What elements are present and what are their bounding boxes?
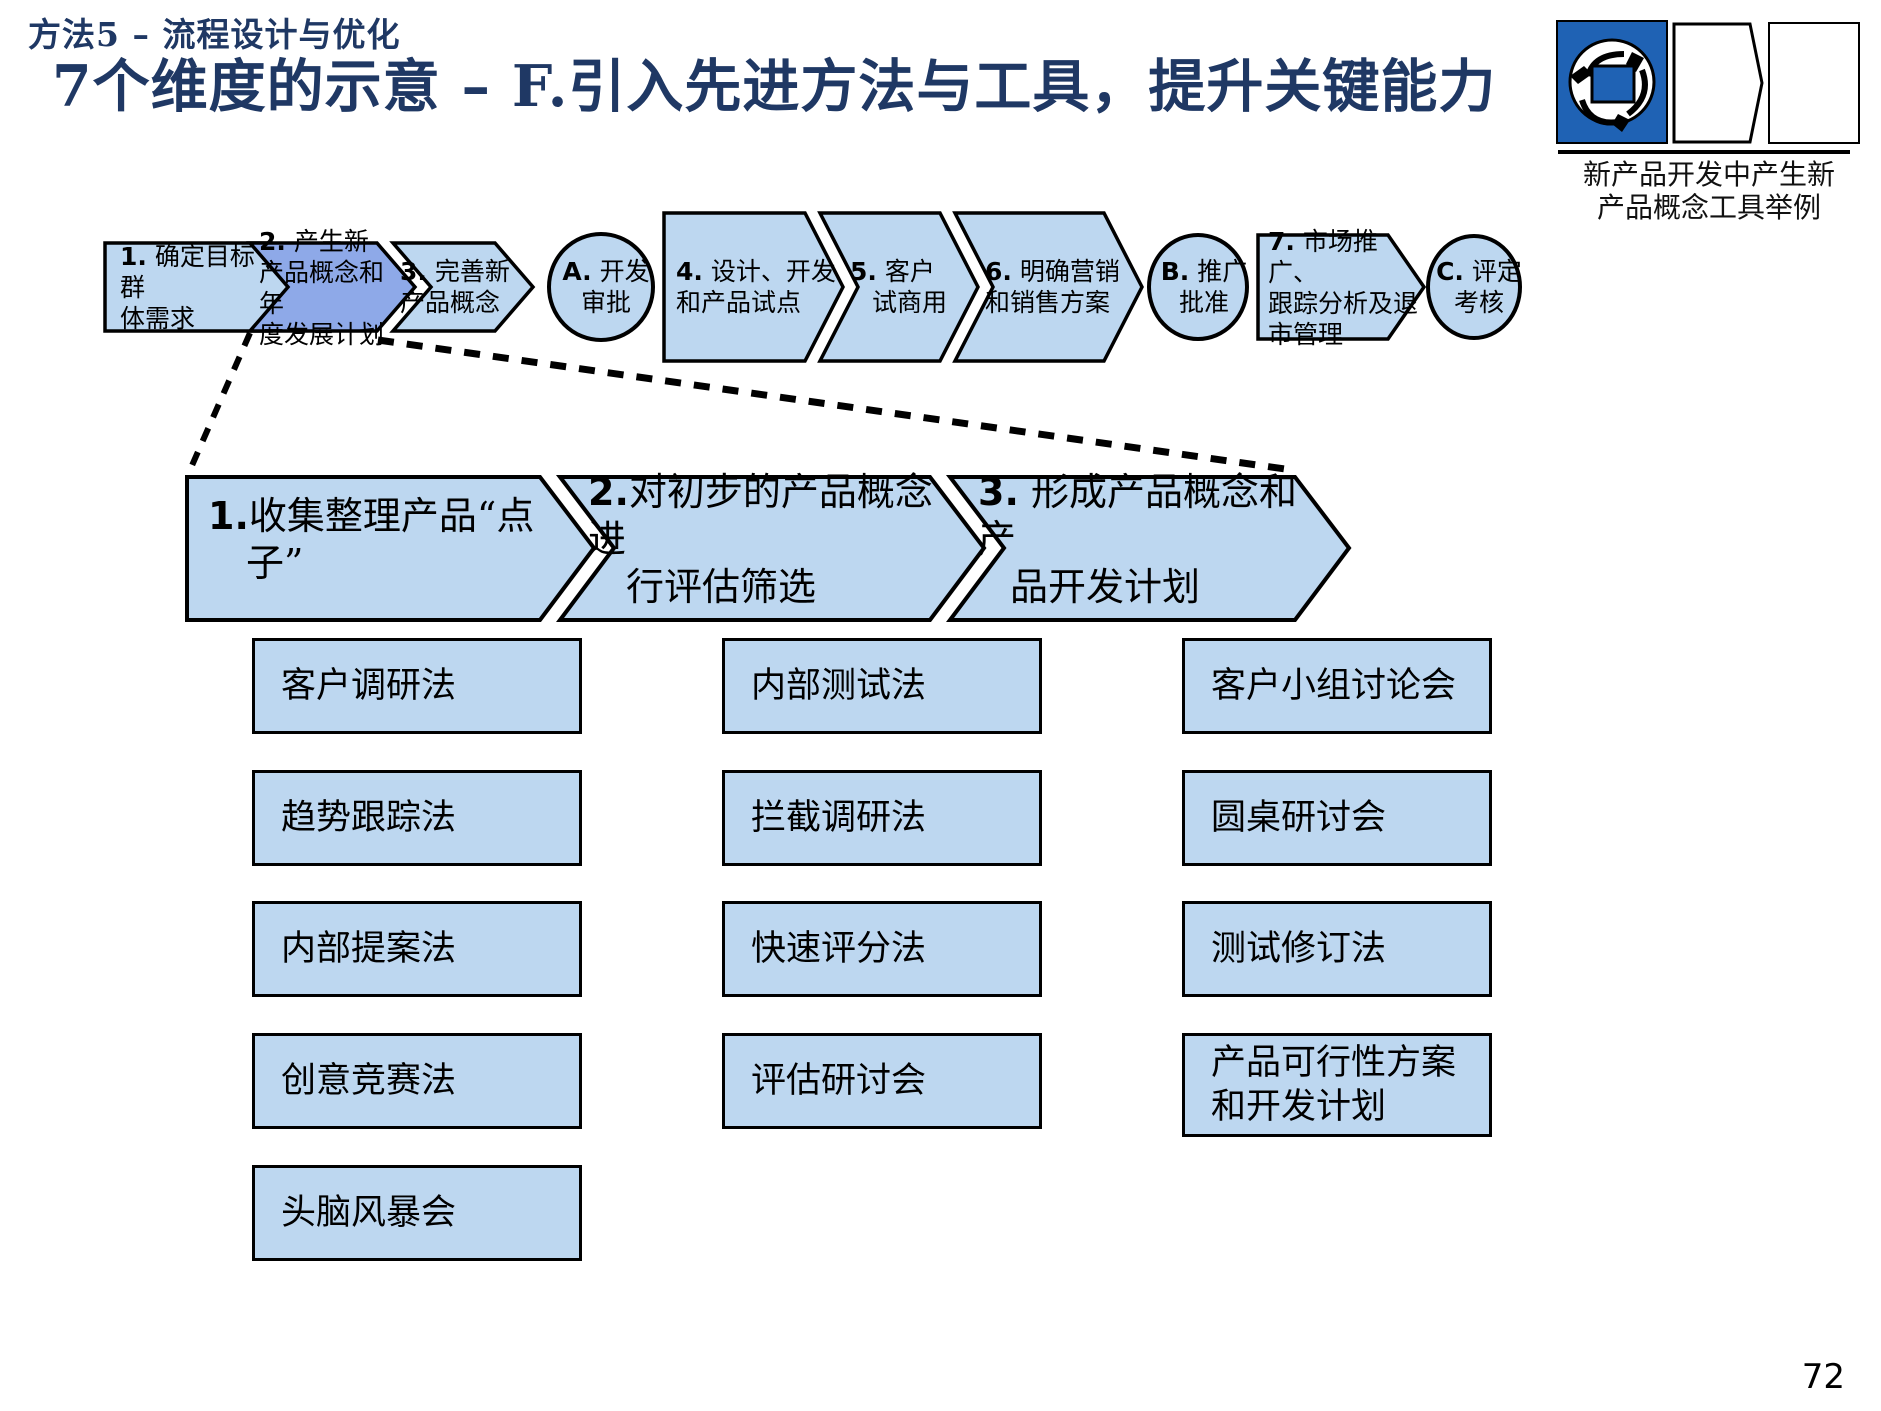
detail-1-line-2: 子” bbox=[208, 540, 548, 587]
gate-a-line-1: 开发 bbox=[600, 257, 650, 286]
step-4-number: 4. bbox=[676, 257, 703, 286]
step-2-line-1: 产生新 bbox=[294, 227, 369, 256]
method-label: 客户小组讨论会 bbox=[1211, 664, 1489, 708]
method-label: 评估研讨会 bbox=[751, 1059, 1039, 1103]
method-box-c1-r4[interactable]: 创意竞赛法 bbox=[252, 1033, 582, 1129]
gate-b-line-1: 推广 bbox=[1197, 257, 1247, 286]
step-2-number: 2. bbox=[259, 227, 286, 256]
detail-1-number: 1. bbox=[208, 494, 249, 538]
gate-a-label: A. 开发 审批 bbox=[560, 245, 652, 329]
method-box-c1-r3[interactable]: 内部提案法 bbox=[252, 901, 582, 997]
step-1-label: 1. 确定目标群 体需求 bbox=[120, 243, 275, 331]
method-label-line-1: 产品可行性方案 bbox=[1211, 1041, 1489, 1085]
connector-left-dashed bbox=[190, 333, 250, 470]
step-2-line-2: 产品概念和年 bbox=[259, 257, 389, 319]
step-6-label: 6. 明确营销 和销售方案 bbox=[985, 243, 1145, 331]
step-6-line-1: 明确营销 bbox=[1020, 257, 1120, 286]
detail-3-line-2: 品开发计划 bbox=[978, 564, 1328, 611]
method-box-c3-r4[interactable]: 产品可行性方案 和开发计划 bbox=[1182, 1033, 1492, 1137]
step-7-line-2: 跟踪分析及退 bbox=[1268, 288, 1418, 319]
detail-1-line-1: 收集整理产品“点 bbox=[249, 494, 534, 538]
gate-c-number: C. bbox=[1436, 257, 1464, 286]
step-5-line-1: 客户 bbox=[885, 257, 935, 286]
method-box-c3-r1[interactable]: 客户小组讨论会 bbox=[1182, 638, 1492, 734]
step-4-line-2: 和产品试点 bbox=[676, 287, 836, 318]
method-label: 创意竞赛法 bbox=[281, 1059, 579, 1103]
detail-3-number: 3. bbox=[978, 470, 1019, 514]
detail-2-label: 2.对初步的产品概念进 行评估筛选 bbox=[588, 485, 948, 595]
step-4-line-1: 设计、开发 bbox=[711, 257, 836, 286]
method-box-c1-r1[interactable]: 客户调研法 bbox=[252, 638, 582, 734]
method-label: 圆桌研讨会 bbox=[1211, 796, 1489, 840]
detail-3-line-1: 形成产品概念和产 bbox=[978, 470, 1297, 561]
detail-2-number: 2. bbox=[588, 470, 629, 514]
page-number: 72 bbox=[1802, 1357, 1845, 1397]
step-3-line-2: 产品概念 bbox=[400, 287, 520, 318]
method-box-c2-r4[interactable]: 评估研讨会 bbox=[722, 1033, 1042, 1129]
step-6-number: 6. bbox=[985, 257, 1012, 286]
step-5-label: 5. 客户 试商用 bbox=[850, 243, 960, 331]
step-6-line-2: 和销售方案 bbox=[985, 287, 1145, 318]
gate-b-label: B. 推广 批准 bbox=[1158, 245, 1250, 329]
step-2-label: 2. 产生新 产品概念和年 度发展计划 bbox=[259, 238, 389, 338]
method-label: 测试修订法 bbox=[1211, 927, 1489, 971]
step-3-line-1: 完善新 bbox=[435, 257, 510, 286]
slide-canvas: 方法5 – 流程设计与优化 7个维度的示意 – F.引入先进方法与工具，提升关键… bbox=[0, 0, 1881, 1411]
detail-2-line-1: 对初步的产品概念进 bbox=[588, 470, 933, 561]
gate-c-line-2: 考核 bbox=[1454, 287, 1504, 318]
gate-b-line-2: 批准 bbox=[1179, 287, 1229, 318]
method-box-c1-r2[interactable]: 趋势跟踪法 bbox=[252, 770, 582, 866]
step-1-line-2: 体需求 bbox=[120, 303, 275, 334]
method-label: 内部提案法 bbox=[281, 927, 579, 971]
method-box-c3-r3[interactable]: 测试修订法 bbox=[1182, 901, 1492, 997]
step-3-label: 3. 完善新 产品概念 bbox=[400, 243, 520, 331]
step-7-line-3: 市管理 bbox=[1268, 319, 1418, 350]
gate-b-number: B. bbox=[1161, 257, 1190, 286]
method-label: 快速评分法 bbox=[751, 927, 1039, 971]
method-box-c2-r3[interactable]: 快速评分法 bbox=[722, 901, 1042, 997]
method-label: 内部测试法 bbox=[751, 664, 1039, 708]
detail-2-line-2: 行评估筛选 bbox=[588, 564, 948, 611]
method-label: 拦截调研法 bbox=[751, 796, 1039, 840]
step-2-line-3: 度发展计划 bbox=[259, 319, 389, 350]
method-label-line-2: 和开发计划 bbox=[1211, 1085, 1489, 1129]
step-3-number: 3. bbox=[400, 257, 427, 286]
step-7-number: 7. bbox=[1268, 227, 1295, 256]
method-box-c3-r2[interactable]: 圆桌研讨会 bbox=[1182, 770, 1492, 866]
gate-c-label: C. 评定 考核 bbox=[1436, 245, 1522, 329]
method-box-c1-r5[interactable]: 头脑风暴会 bbox=[252, 1165, 582, 1261]
method-label: 趋势跟踪法 bbox=[281, 796, 579, 840]
detail-3-label: 3. 形成产品概念和产 品开发计划 bbox=[978, 485, 1328, 595]
method-box-c2-r2[interactable]: 拦截调研法 bbox=[722, 770, 1042, 866]
step-5-number: 5. bbox=[850, 257, 877, 286]
gate-a-line-2: 审批 bbox=[581, 287, 631, 318]
step-5-line-2: 试商用 bbox=[850, 287, 960, 318]
gate-a-number: A. bbox=[562, 257, 591, 286]
step-1-number: 1. bbox=[120, 242, 147, 271]
method-label: 客户调研法 bbox=[281, 664, 579, 708]
step-7-label: 7. 市场推广、 跟踪分析及退 市管理 bbox=[1268, 238, 1418, 338]
step-4-label: 4. 设计、开发 和产品试点 bbox=[676, 243, 836, 331]
detail-1-label: 1.收集整理产品“点 子” bbox=[208, 485, 548, 595]
method-label: 头脑风暴会 bbox=[281, 1191, 579, 1235]
gate-c-line-1: 评定 bbox=[1472, 257, 1522, 286]
method-box-c2-r1[interactable]: 内部测试法 bbox=[722, 638, 1042, 734]
